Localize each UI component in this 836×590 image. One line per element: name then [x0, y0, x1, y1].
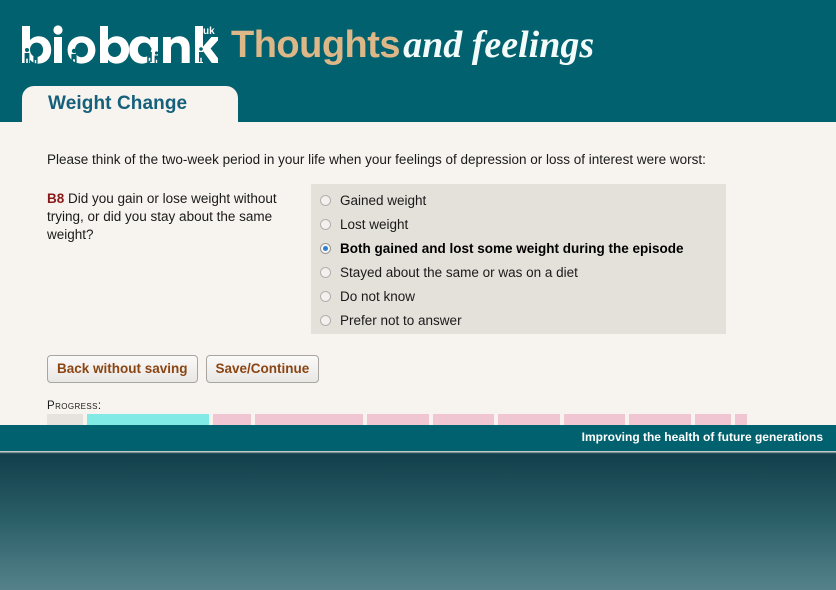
tab-weight-change[interactable]: Weight Change — [22, 86, 238, 122]
question-number: B8 — [47, 191, 64, 206]
svg-text:uk: uk — [203, 26, 215, 37]
radio-icon[interactable] — [320, 219, 331, 230]
site-footer: Improving the health of future generatio… — [0, 425, 836, 451]
radio-icon[interactable] — [320, 291, 331, 302]
page-backdrop — [0, 451, 836, 590]
page-root: uk Thoug — [0, 0, 836, 590]
radio-icon[interactable] — [320, 267, 331, 278]
title-secondary: and feelings — [403, 24, 594, 66]
answer-options-panel: Gained weight Lost weight Both gained an… — [311, 184, 726, 334]
option-lost-weight[interactable]: Lost weight — [311, 212, 726, 236]
title-primary: Thoughts — [231, 24, 400, 66]
form-actions: Back without saving Save/Continue — [47, 355, 319, 383]
option-both-gained-and-lost[interactable]: Both gained and lost some weight during … — [311, 236, 726, 260]
back-without-saving-button[interactable]: Back without saving — [47, 355, 198, 383]
tab-label: Weight Change — [48, 93, 187, 115]
option-do-not-know[interactable]: Do not know — [311, 284, 726, 308]
radio-icon[interactable] — [320, 195, 331, 206]
option-label: Prefer not to answer — [340, 313, 462, 328]
option-stayed-same[interactable]: Stayed about the same or was on a diet — [311, 260, 726, 284]
intro-text: Please think of the two-week period in y… — [47, 152, 706, 167]
save-continue-button[interactable]: Save/Continue — [206, 355, 320, 383]
question-body: Did you gain or lose weight without tryi… — [47, 191, 277, 242]
uk-biobank-logo: uk — [18, 22, 218, 70]
option-prefer-not-to-answer[interactable]: Prefer not to answer — [311, 308, 726, 332]
option-label: Do not know — [340, 289, 415, 304]
footer-tagline: Improving the health of future generatio… — [582, 430, 823, 444]
radio-icon[interactable] — [320, 315, 331, 326]
option-label: Both gained and lost some weight during … — [340, 241, 684, 256]
option-label: Gained weight — [340, 193, 426, 208]
progress-label: Progress: — [47, 400, 101, 412]
radio-icon-selected[interactable] — [320, 243, 331, 254]
option-label: Lost weight — [340, 217, 408, 232]
form-content: Please think of the two-week period in y… — [0, 122, 836, 425]
option-gained-weight[interactable]: Gained weight — [311, 188, 726, 212]
question-text: B8 Did you gain or lose weight without t… — [47, 190, 299, 244]
option-label: Stayed about the same or was on a diet — [340, 265, 578, 280]
page-title: Thoughtsand feelings — [231, 23, 594, 67]
